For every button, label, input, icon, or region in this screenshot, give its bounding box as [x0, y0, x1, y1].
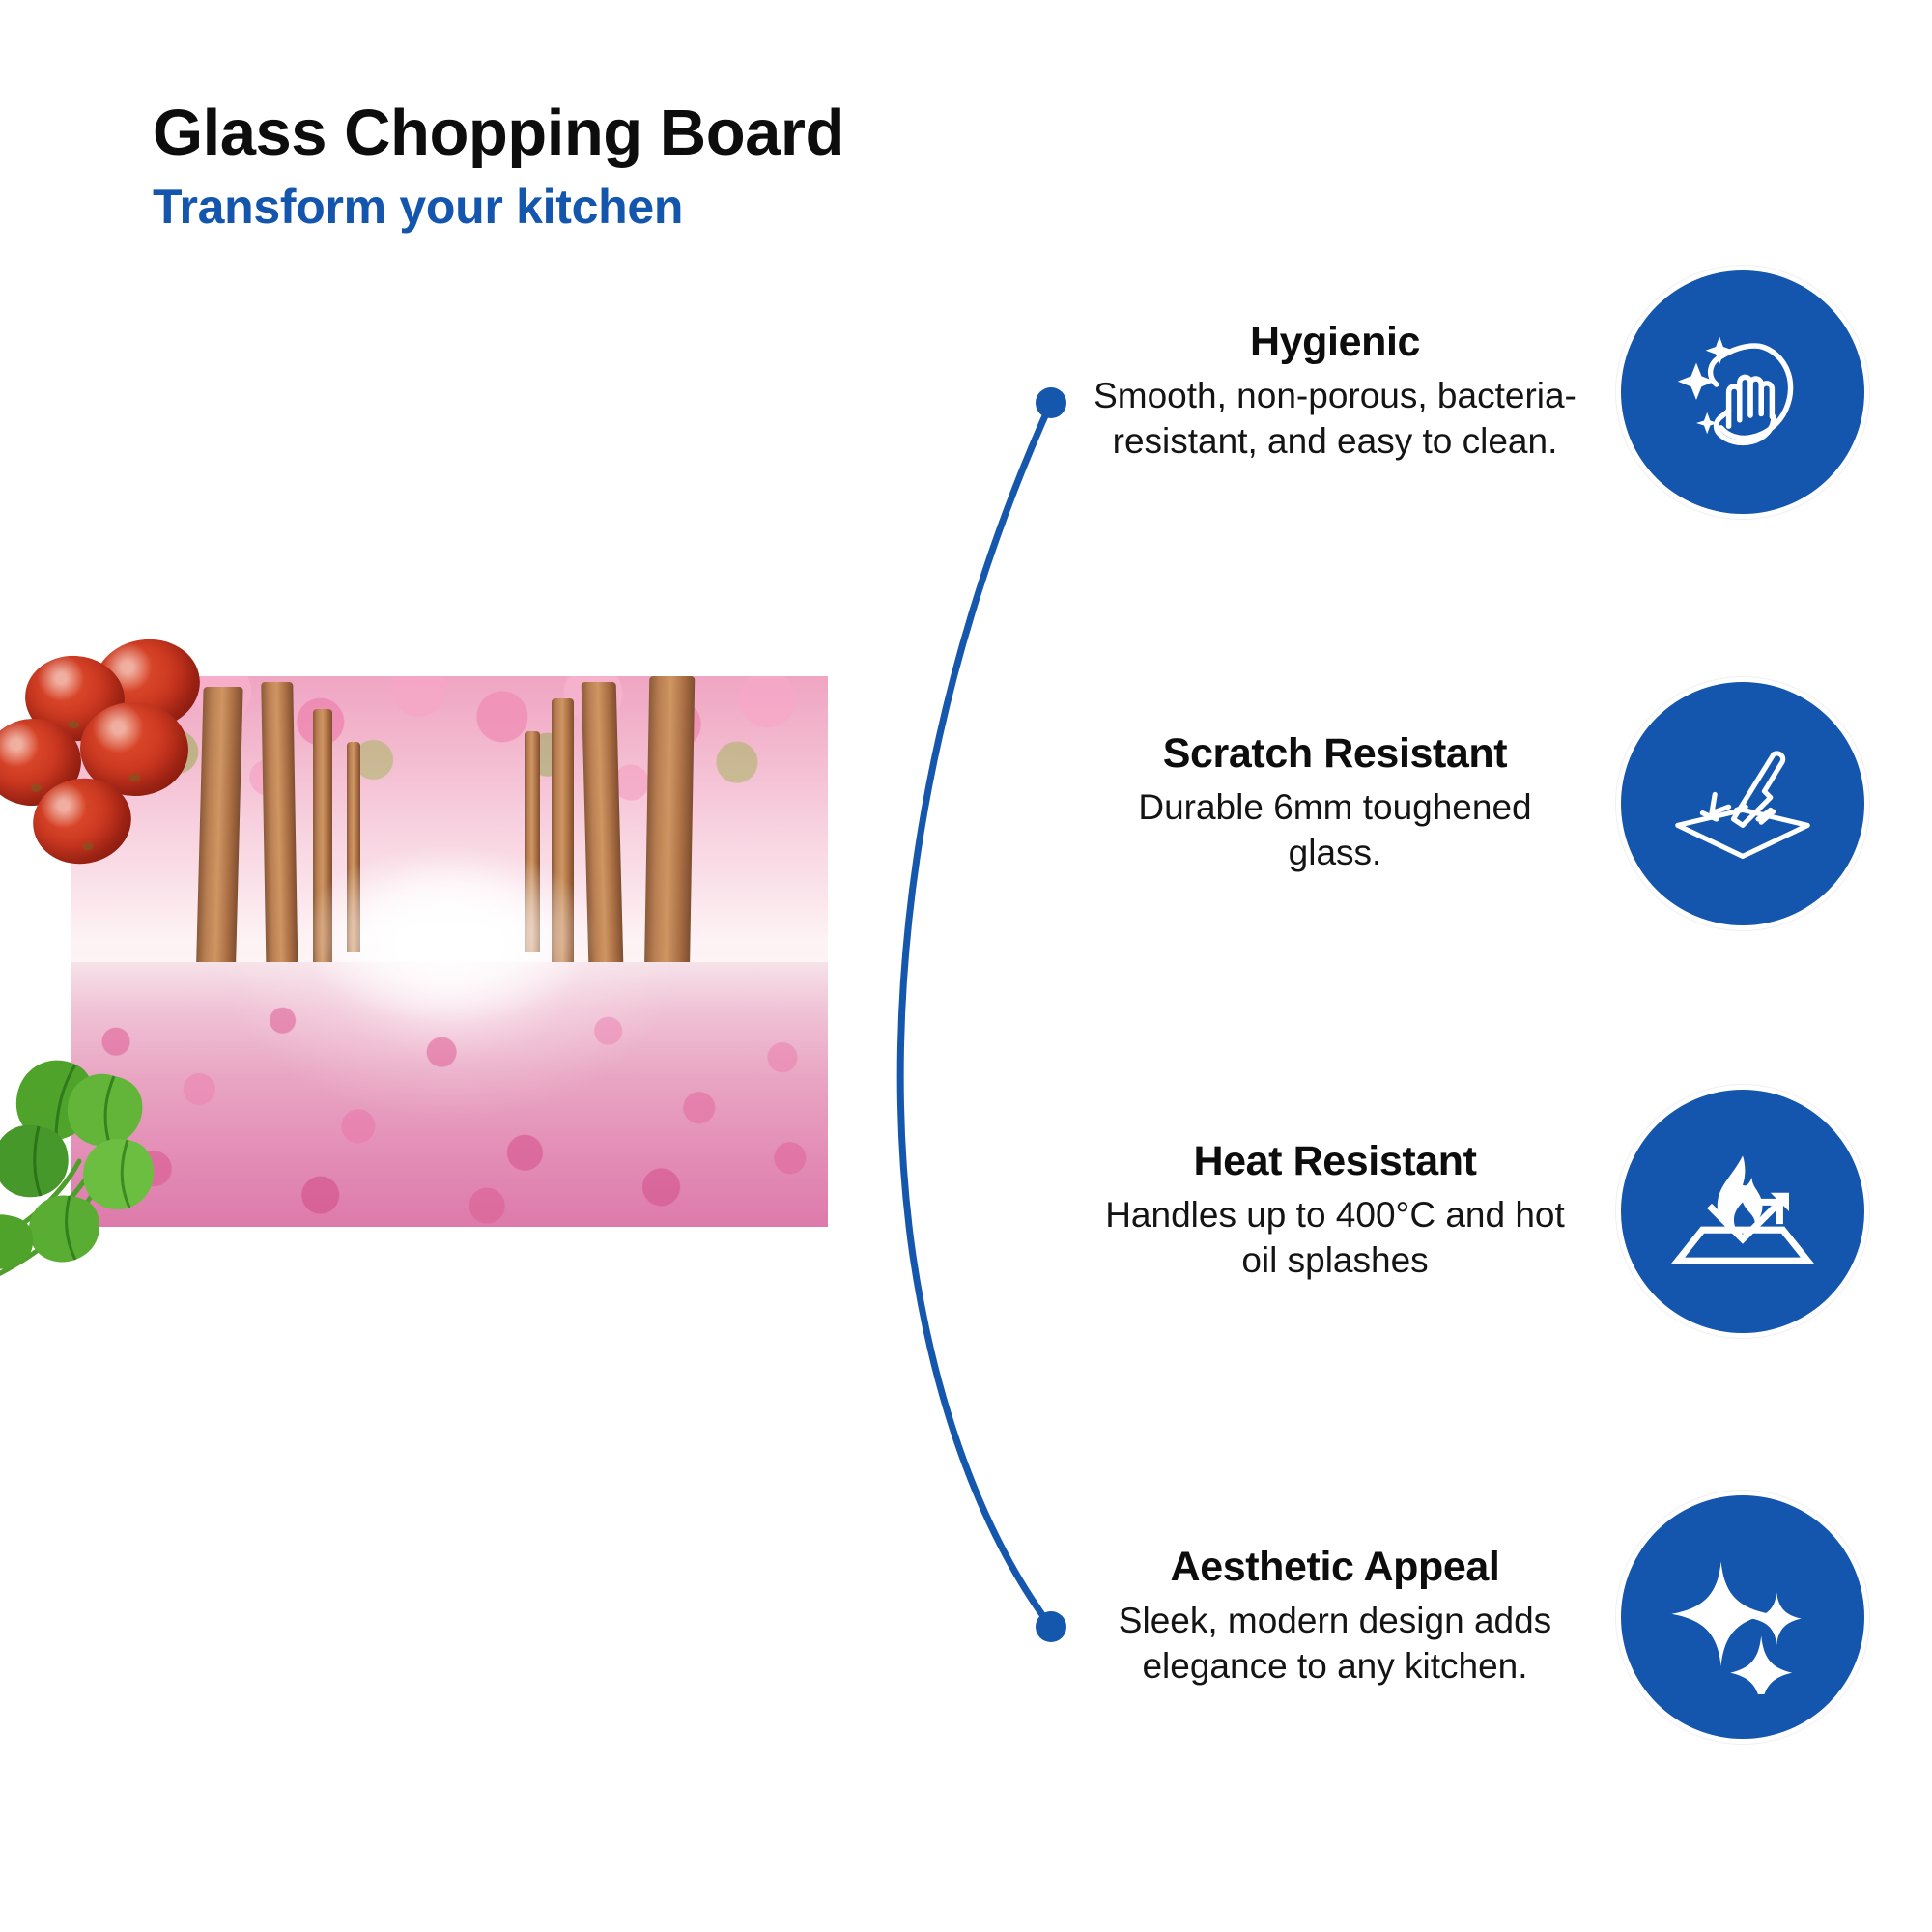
photo-tree-trunk [347, 742, 360, 952]
sparkles-icon [1621, 1495, 1864, 1739]
feature-description: Durable 6mm toughened glass. [1094, 784, 1577, 876]
knife-impact-surface-icon [1621, 682, 1864, 925]
photo-tree-trunk [313, 709, 332, 962]
photo-tree-trunk [525, 731, 540, 952]
feature-text-block: Hygienic Smooth, non-porous, bacteria-re… [1094, 320, 1577, 464]
feature-text-block: Heat Resistant Handles up to 400°C and h… [1094, 1139, 1577, 1283]
page-subtitle: Transform your kitchen [153, 183, 1119, 231]
feature-row-heat-resistant: Heat Resistant Handles up to 400°C and h… [1043, 1090, 1864, 1333]
feature-title: Aesthetic Appeal [1094, 1545, 1577, 1589]
page-title: Glass Chopping Board [153, 100, 1119, 165]
feature-description: Smooth, non-porous, bacteria-resistant, … [1094, 373, 1577, 465]
feature-row-hygienic: Hygienic Smooth, non-porous, bacteria-re… [1043, 270, 1864, 514]
feature-text-block: Scratch Resistant Durable 6mm toughened … [1094, 731, 1577, 875]
parsley-svg [0, 1026, 209, 1287]
feature-title: Heat Resistant [1094, 1139, 1577, 1183]
connector-path [900, 403, 1051, 1627]
parsley-sprig-icon [0, 1026, 209, 1287]
feature-title: Scratch Resistant [1094, 731, 1577, 776]
hand-wiping-sparkle-glyph [1665, 315, 1820, 469]
knife-impact-surface-glyph [1665, 726, 1820, 881]
feature-description: Sleek, modern design adds elegance to an… [1094, 1598, 1577, 1690]
photo-tree-trunk [261, 682, 298, 985]
feature-text-block: Aesthetic Appeal Sleek, modern design ad… [1094, 1545, 1577, 1689]
feature-row-aesthetic-appeal: Aesthetic Appeal Sleek, modern design ad… [1043, 1495, 1864, 1739]
flame-deflect-surface-icon [1621, 1090, 1864, 1333]
flame-deflect-surface-glyph [1665, 1134, 1820, 1289]
hand-wiping-sparkle-icon [1621, 270, 1864, 514]
feature-description: Handles up to 400°C and hot oil splashes [1094, 1192, 1577, 1284]
feature-row-scratch-resistant: Scratch Resistant Durable 6mm toughened … [1043, 682, 1864, 925]
feature-title: Hygienic [1094, 320, 1577, 364]
sparkles-glyph [1665, 1540, 1820, 1694]
photo-tree-trunk [552, 698, 575, 974]
header-block: Glass Chopping Board Transform your kitc… [153, 100, 1119, 231]
